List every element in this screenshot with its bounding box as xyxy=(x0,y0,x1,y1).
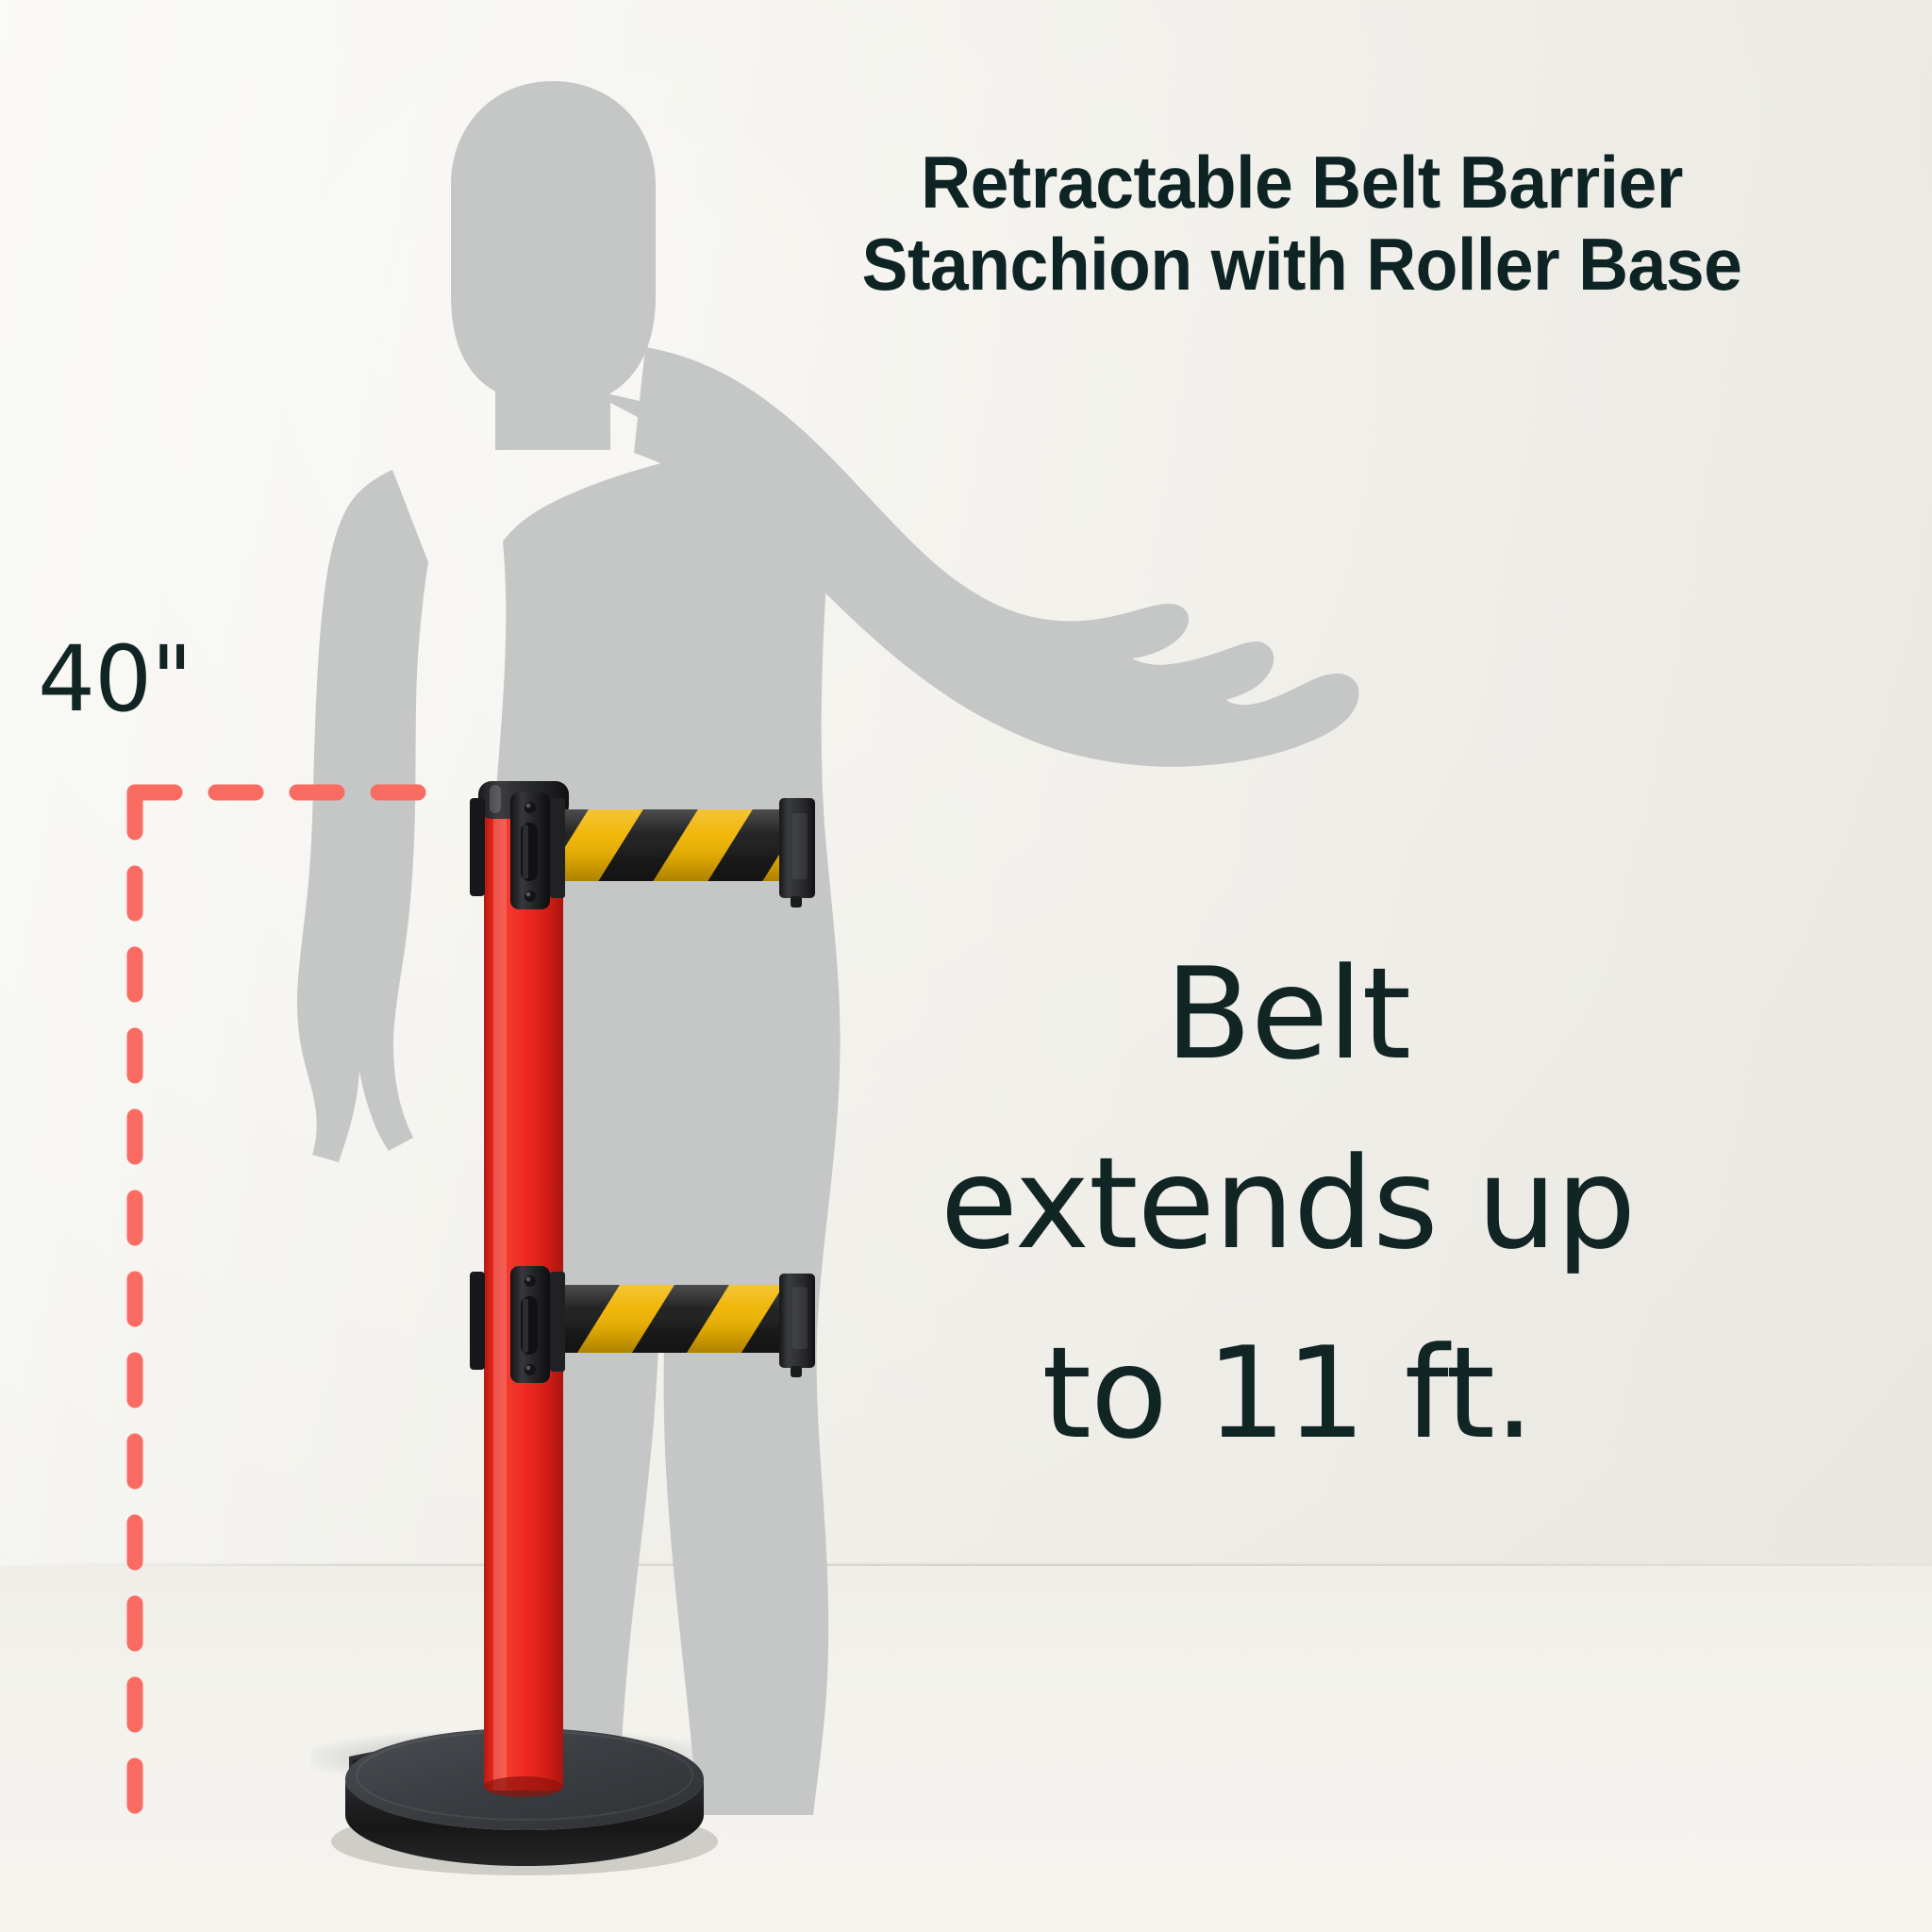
callout-line-2: extends up xyxy=(840,1109,1736,1299)
product-infographic: 40" Retractable Belt Barrier Stanchion w… xyxy=(0,0,1932,1932)
page-title-line-1: Retractable Belt Barrier xyxy=(752,142,1852,224)
page-title: Retractable Belt Barrier Stanchion with … xyxy=(752,142,1852,307)
dimension-label: 40" xyxy=(38,634,192,724)
callout-line-3: to 11 ft. xyxy=(840,1299,1736,1489)
callout-line-1: Belt xyxy=(840,920,1736,1109)
page-title-line-2: Stanchion with Roller Base xyxy=(752,224,1852,306)
belt-extension-callout: Belt extends up to 11 ft. xyxy=(840,920,1736,1489)
